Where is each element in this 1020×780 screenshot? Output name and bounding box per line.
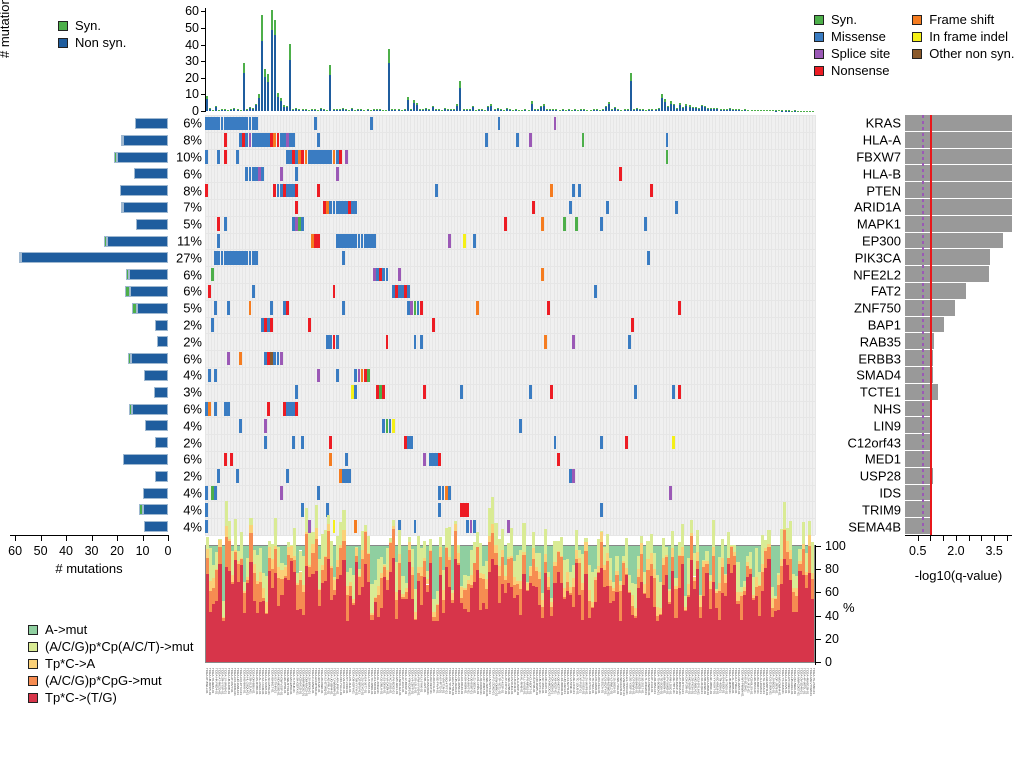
sample-mutation-rate-bar <box>258 94 260 111</box>
oncoprint-gridline <box>606 115 607 535</box>
mutation-cell <box>435 184 438 198</box>
oncoprint-gridline <box>373 115 374 535</box>
oncoprint-gridline <box>550 115 551 535</box>
oncoprint-gridline <box>392 115 393 535</box>
sample-mutation-rate-bar <box>772 110 774 111</box>
sample-mutation-rate-bar <box>339 109 341 111</box>
mutation-cell <box>647 251 650 265</box>
mutation-cell <box>354 520 357 534</box>
nonsyn-segment <box>735 110 737 111</box>
sample-mutation-rate-bar <box>747 110 749 111</box>
qvalue-threshold-red-line <box>930 115 932 535</box>
left-axis-tick-label: 50 <box>34 544 48 558</box>
mutation-cell <box>280 352 283 366</box>
top-axis-tick-label: 50 <box>185 21 199 35</box>
nonsyn-segment <box>620 110 622 111</box>
oncoprint-gridline <box>289 115 290 535</box>
nonsyn-segment <box>590 110 592 111</box>
oncoprint-gridline <box>205 518 815 519</box>
sample-mutation-rate-bar <box>401 110 403 111</box>
nonsyn-segment <box>295 109 297 111</box>
signature-legend-item: (A/C/G)p*CpG->mut <box>28 673 193 688</box>
nonsyn-segment <box>267 82 269 111</box>
gene-name-label: IDS <box>879 486 901 501</box>
sample-mutation-rate-bar <box>466 109 468 111</box>
nonsyn-segment <box>469 110 471 111</box>
nonsyn-segment <box>577 110 579 111</box>
oncoprint-gridline <box>815 115 816 535</box>
oncoprint-gridline <box>504 115 505 535</box>
oncoprint-gridline <box>762 115 763 535</box>
oncoprint-gridline <box>351 115 352 535</box>
sample-mutation-rate-bar <box>487 106 489 111</box>
nonsyn-segment <box>391 109 393 111</box>
mutation-cell <box>314 234 317 248</box>
oncoprint-gridline <box>401 115 402 535</box>
oncoprint-gridline <box>273 115 274 535</box>
nonsyn-segment <box>370 110 372 111</box>
nonsyn-segment <box>376 110 378 111</box>
syn-segment <box>19 252 22 263</box>
signature-legend-swatch-icon <box>28 693 38 703</box>
mutation-cell <box>230 453 233 467</box>
nonsyn-segment <box>404 109 406 111</box>
syn-segment <box>487 106 489 107</box>
sample-mutation-rate-bar <box>627 109 629 111</box>
nonsyn-segment <box>667 107 669 111</box>
oncoprint-gridline <box>628 115 629 535</box>
nonsyn-segment <box>670 104 672 111</box>
nonsyn-segment <box>249 108 251 111</box>
sample-mutation-rate-bar <box>494 109 496 111</box>
nonsyn-segment <box>478 110 480 111</box>
sample-mutation-rate-bar <box>478 109 480 111</box>
oncoprint-gridline <box>697 115 698 535</box>
syn-segment <box>472 106 474 107</box>
sample-mutation-rate-bar <box>357 109 359 111</box>
nonsyn-segment <box>630 81 632 111</box>
nonsyn-segment <box>317 110 319 111</box>
muttype-legend-label: Splice site <box>831 46 890 61</box>
gene-mutation-bar <box>144 370 168 381</box>
nonsyn-segment <box>354 110 356 111</box>
syn-segment <box>531 101 533 103</box>
nonsyn-segment <box>506 109 508 111</box>
mutation-cell <box>342 251 345 265</box>
mutation-cell <box>532 201 535 215</box>
syn-segment <box>388 49 390 63</box>
sample-mutation-rate-bar <box>614 107 616 111</box>
sample-mutation-rate-bar <box>475 110 477 111</box>
oncoprint-gridline <box>681 115 682 535</box>
nonsyn-segment <box>240 110 242 111</box>
mutation-cell <box>217 217 220 231</box>
oncoprint-gridline <box>476 115 477 535</box>
left-axis-tick <box>66 535 67 541</box>
gene-name-label: FBXW7 <box>856 150 901 165</box>
syn-segment <box>274 20 276 35</box>
mutation-cell <box>208 369 211 383</box>
oncoprint-gridline <box>684 115 685 535</box>
sample-mutation-rate-bar <box>521 110 523 111</box>
rate-legend-item: Syn. <box>58 18 126 33</box>
sample-mutation-rate-bar <box>221 109 223 111</box>
sample-mutation-rate-bar <box>645 110 647 111</box>
signature-legend-swatch-icon <box>28 676 38 686</box>
mutation-cell <box>317 486 320 500</box>
muttype-legend-item: Other non syn. <box>912 46 1014 61</box>
mutation-cell <box>295 184 298 198</box>
gene-name-label: SEMA4B <box>848 519 901 534</box>
nonsyn-segment <box>466 110 468 111</box>
mutation-cell <box>224 150 227 164</box>
oncoprint-gridline <box>784 115 785 535</box>
nonsyn-segment <box>413 103 415 111</box>
nonsyn-segment <box>339 110 341 111</box>
signature-segment-cpc-to-mut <box>392 520 395 526</box>
nonsyn-segment <box>723 109 725 111</box>
nonsyn-segment <box>107 236 168 247</box>
sample-mutation-rate-bar <box>280 98 282 111</box>
mutation-cell <box>631 318 634 332</box>
nonsyn-segment <box>367 109 369 111</box>
sample-mutation-rate-bar <box>329 64 331 111</box>
nonsyn-segment <box>744 110 746 111</box>
mutation-cell <box>373 234 376 248</box>
nonsyn-segment <box>277 97 279 111</box>
nonsyn-segment <box>326 110 328 111</box>
syn-segment <box>351 108 353 109</box>
gene-mutation-bar <box>136 219 168 230</box>
oncoprint-gridline <box>796 115 797 535</box>
syn-segment <box>129 404 133 415</box>
syn-segment <box>661 94 663 97</box>
nonsyn-segment <box>689 107 691 111</box>
oncoprint-gridline <box>205 115 815 116</box>
sample-mutation-rate-bar <box>419 109 421 111</box>
sample-mutation-rate-bar <box>497 108 499 111</box>
left-axis-label: # mutations <box>10 561 168 576</box>
oncoprint-gridline <box>224 115 225 535</box>
mutation-cell <box>292 133 295 147</box>
sample-mutation-rate-bar <box>608 102 610 111</box>
syn-segment <box>614 107 616 108</box>
nonsyn-segment <box>286 107 288 111</box>
syn-segment <box>255 104 257 106</box>
mutation-cell <box>345 150 348 164</box>
left-axis-tick-label: 30 <box>85 544 99 558</box>
syn-segment <box>233 108 235 109</box>
nonsyn-segment <box>218 110 220 111</box>
sample-mutation-rate-bar <box>237 109 239 111</box>
gene-mutation-bar <box>145 420 168 431</box>
sample-mutation-rate-bar <box>726 109 728 111</box>
sample-mutation-rate-bar <box>484 110 486 111</box>
oncoprint-gridline <box>781 115 782 535</box>
mutation-cell <box>367 369 370 383</box>
mutation-cell <box>255 117 258 131</box>
signature-axis-tick <box>815 662 821 663</box>
oncoprint-gridline <box>700 115 701 535</box>
mutation-cell <box>211 318 214 332</box>
sample-mutation-rate-bar <box>568 109 570 111</box>
sample-mutation-rate-bar <box>283 105 285 111</box>
gene-mutation-bar <box>155 320 168 331</box>
mutation-cell <box>214 402 217 416</box>
sample-mutation-rate-bar <box>382 110 384 111</box>
oncoprint-gridline <box>376 115 377 535</box>
oncoprint-gridline <box>597 115 598 535</box>
oncoprint-gridline <box>367 115 368 535</box>
gene-percent-label: 7% <box>183 200 202 215</box>
signature-segment-cpc-to-mut <box>364 525 367 531</box>
qvalue-bar <box>905 249 990 266</box>
gene-mutation-bar <box>127 353 168 364</box>
signature-segment-tpc-to-a <box>392 526 395 529</box>
nonsyn-segment <box>123 135 168 146</box>
sample-mutation-rate-bar <box>450 109 452 111</box>
oncoprint-gridline <box>398 115 399 535</box>
sample-mutation-rate-bar <box>689 105 691 111</box>
gene-percent-label: 2% <box>183 435 202 450</box>
oncoprint-gridline <box>554 115 555 535</box>
sample-mutation-rate-bar <box>305 109 307 111</box>
sample-mutation-rate-bar <box>271 10 273 111</box>
qvalue-axis-tick <box>930 535 931 541</box>
nonsyn-segment <box>627 110 629 111</box>
sample-mutation-rate-bar <box>593 109 595 111</box>
nonsyn-segment <box>308 110 310 111</box>
mutation-cell <box>432 318 435 332</box>
signature-segment-cpc-to-mut <box>584 538 587 541</box>
mutation-cell <box>280 486 283 500</box>
nonsyn-segment <box>695 108 697 111</box>
nonsyn-segment <box>401 110 403 111</box>
sample-mutation-rate-bar <box>781 110 783 111</box>
mutation-cell <box>301 503 304 517</box>
gene-mutation-bar <box>157 336 168 347</box>
sample-mutation-rate-bar <box>215 106 217 111</box>
sample-mutation-rate-bar <box>531 101 533 111</box>
nonsyn-segment <box>237 110 239 111</box>
nonsyn-segment <box>658 109 660 111</box>
sample-mutation-rate-bar <box>562 109 564 111</box>
nonsyn-segment <box>682 108 684 111</box>
gene-name-label: PTEN <box>866 183 901 198</box>
qvalue-axis-tick <box>943 535 944 541</box>
nonsyn-segment <box>664 102 666 111</box>
oncoprint-gridline <box>205 350 815 351</box>
oncoprint-gridline <box>370 115 371 535</box>
oncoprint-gridline <box>787 115 788 535</box>
mutation-cell <box>336 167 339 181</box>
nonsyn-segment <box>373 110 375 111</box>
top-panel-y-axis: 0102030405060 <box>188 8 206 112</box>
top-axis-tick-label: 40 <box>185 38 199 52</box>
nonsyn-segment <box>546 109 548 111</box>
top-axis-tick-label: 20 <box>185 71 199 85</box>
mutation-cell <box>214 369 217 383</box>
nonsyn-segment <box>305 110 307 111</box>
qvalue-bar <box>905 266 989 283</box>
sample-mutation-rate-bar <box>224 109 226 111</box>
gene-mutation-bar <box>129 404 168 415</box>
gene-name-label: FAT2 <box>871 284 901 299</box>
nonsyn-segment <box>537 110 539 111</box>
sample-mutation-rate-bar <box>695 107 697 111</box>
mutation-cell <box>333 285 336 299</box>
oncoprint-gridline <box>389 115 390 535</box>
nonsyn-segment <box>692 108 694 111</box>
muttype-legend-label: Missense <box>831 29 886 44</box>
oncoprint-gridline <box>799 115 800 535</box>
nonsyn-segment <box>481 109 483 111</box>
sample-mutation-rate-bar <box>227 110 229 111</box>
sample-mutation-rate-bar <box>469 109 471 111</box>
mutation-cell <box>348 469 351 483</box>
nonsyn-segment <box>741 110 743 111</box>
oncoprint-gridline <box>575 115 576 535</box>
mutation-cell <box>295 201 298 215</box>
oncoprint-gridline <box>460 115 461 535</box>
oncoprint-gridline <box>227 115 228 535</box>
qvalue-bar <box>905 317 944 334</box>
mutation-cell <box>224 217 227 231</box>
mutation-cell <box>351 385 354 399</box>
sample-mutation-rate-bar <box>298 109 300 111</box>
sample-mutation-rate-bar <box>317 110 319 111</box>
nonsyn-segment <box>206 99 208 111</box>
sample-mutation-rate-bar <box>441 110 443 111</box>
sample-mutation-rate-bar <box>388 49 390 111</box>
oncoprint-gridline <box>451 115 452 535</box>
oncoprint-gridline <box>616 115 617 535</box>
sample-mutation-rate-bar <box>404 109 406 111</box>
oncoprint-gridline <box>435 115 436 535</box>
mutation-cell <box>314 117 317 131</box>
nonsyn-segment <box>617 110 619 111</box>
mutation-cell <box>329 453 332 467</box>
mutation-cell <box>550 184 553 198</box>
oncoprint-gridline <box>354 115 355 535</box>
syn-segment <box>271 10 273 30</box>
nonsyn-segment <box>726 110 728 111</box>
sample-mutation-rate-bar <box>738 109 740 111</box>
syn-segment <box>670 101 672 103</box>
sample-mutation-rate-bar <box>289 44 291 111</box>
mutation-cell <box>398 268 401 282</box>
gene-mutation-bar <box>135 118 168 129</box>
sample-mutation-rate-bar <box>716 108 718 111</box>
mutation-legend-col2: Frame shiftIn frame indelOther non syn. <box>912 12 1014 80</box>
sample-mutation-rate-bar <box>754 110 756 111</box>
nonsyn-segment <box>120 185 168 196</box>
oncoprint-gridline <box>650 115 651 535</box>
syn-segment <box>249 107 251 108</box>
nonsyn-segment <box>515 109 517 111</box>
syn-segment <box>295 108 297 109</box>
oncoprint-gridline <box>317 115 318 535</box>
sample-mutation-rate-bar <box>574 109 576 111</box>
sample-mutation-rate-bar <box>472 106 474 111</box>
oncoprint-gridline <box>734 115 735 535</box>
oncoprint-gridline <box>208 115 209 535</box>
oncoprint-gridline <box>470 115 471 535</box>
mutation-cell <box>249 301 252 315</box>
sample-mutation-rate-bar <box>311 109 313 111</box>
nonsyn-segment <box>543 106 545 111</box>
gene-percent-label: 2% <box>183 469 202 484</box>
gene-percent-label: 6% <box>183 166 202 181</box>
gene-percent-label: 4% <box>183 486 202 501</box>
oncoprint-gridline <box>205 317 815 318</box>
sample-mutation-rate-bar <box>379 109 381 111</box>
syn-segment <box>695 107 697 108</box>
oncoprint-gridline <box>410 115 411 535</box>
nonsyn-segment <box>707 109 709 111</box>
mutation-cell <box>420 335 423 349</box>
nonsyn-segment <box>562 109 564 111</box>
oncoprint-gridline <box>205 233 815 234</box>
nonsyn-segment <box>738 110 740 111</box>
sample-mutation-rate-bar <box>267 74 269 111</box>
oncoprint-gridline <box>526 115 527 535</box>
muttype-legend-label: In frame indel <box>929 29 1008 44</box>
sample-mutation-rate-bar <box>565 110 567 111</box>
qvalue-axis-tick-label: 0.5 <box>909 544 926 558</box>
sample-mutation-rate-bar <box>723 109 725 111</box>
nonsyn-segment <box>512 110 514 111</box>
sample-mutation-rate-bar <box>611 109 613 111</box>
oncoprint-gridline <box>205 283 815 284</box>
syn-segment <box>104 236 107 247</box>
nonsyn-segment <box>766 110 768 111</box>
nonsyn-segment <box>428 110 430 111</box>
oncoprint-gridline <box>532 115 533 535</box>
nonsyn-segment <box>716 109 718 111</box>
nonsyn-segment <box>342 108 344 111</box>
nonsyn-segment <box>459 88 461 111</box>
nonsyn-segment <box>503 110 505 111</box>
sample-mutation-rate-bar <box>661 94 663 111</box>
signature-legend-label: (A/C/G)p*Cp(A/C/T)->mut <box>45 639 193 654</box>
sample-mutation-rate-bar <box>744 109 746 111</box>
signature-legend-label: Tp*C->(T/G) <box>45 690 117 705</box>
signature-sample-column <box>811 546 814 662</box>
mutation-cell <box>666 133 669 147</box>
mutation-cell <box>205 503 208 517</box>
sample-mutation-rate-bar <box>503 110 505 111</box>
oncoprint-gridline <box>753 115 754 535</box>
nonsyn-segment <box>602 110 604 111</box>
sample-mutation-rate-bar <box>704 106 706 111</box>
nonsyn-segment <box>274 35 276 111</box>
syn-segment <box>685 104 687 105</box>
signature-segment-cpc-to-mut <box>305 508 308 532</box>
nonsyn-segment <box>639 110 641 111</box>
nonsyn-segment <box>155 437 168 448</box>
mutation-cell <box>619 167 622 181</box>
sample-mutation-rate-bar <box>376 109 378 111</box>
sample-mutation-rate-bar <box>549 109 551 111</box>
sample-mutation-rate-bar <box>766 110 768 111</box>
oncoprint-gridline <box>491 115 492 535</box>
mutation-cell <box>333 520 336 534</box>
signature-axis-tick-label: 60 <box>825 585 839 599</box>
oncoprint-gridline <box>725 115 726 535</box>
nonsyn-segment <box>676 109 678 111</box>
sample-mutation-rate-bar <box>512 110 514 111</box>
